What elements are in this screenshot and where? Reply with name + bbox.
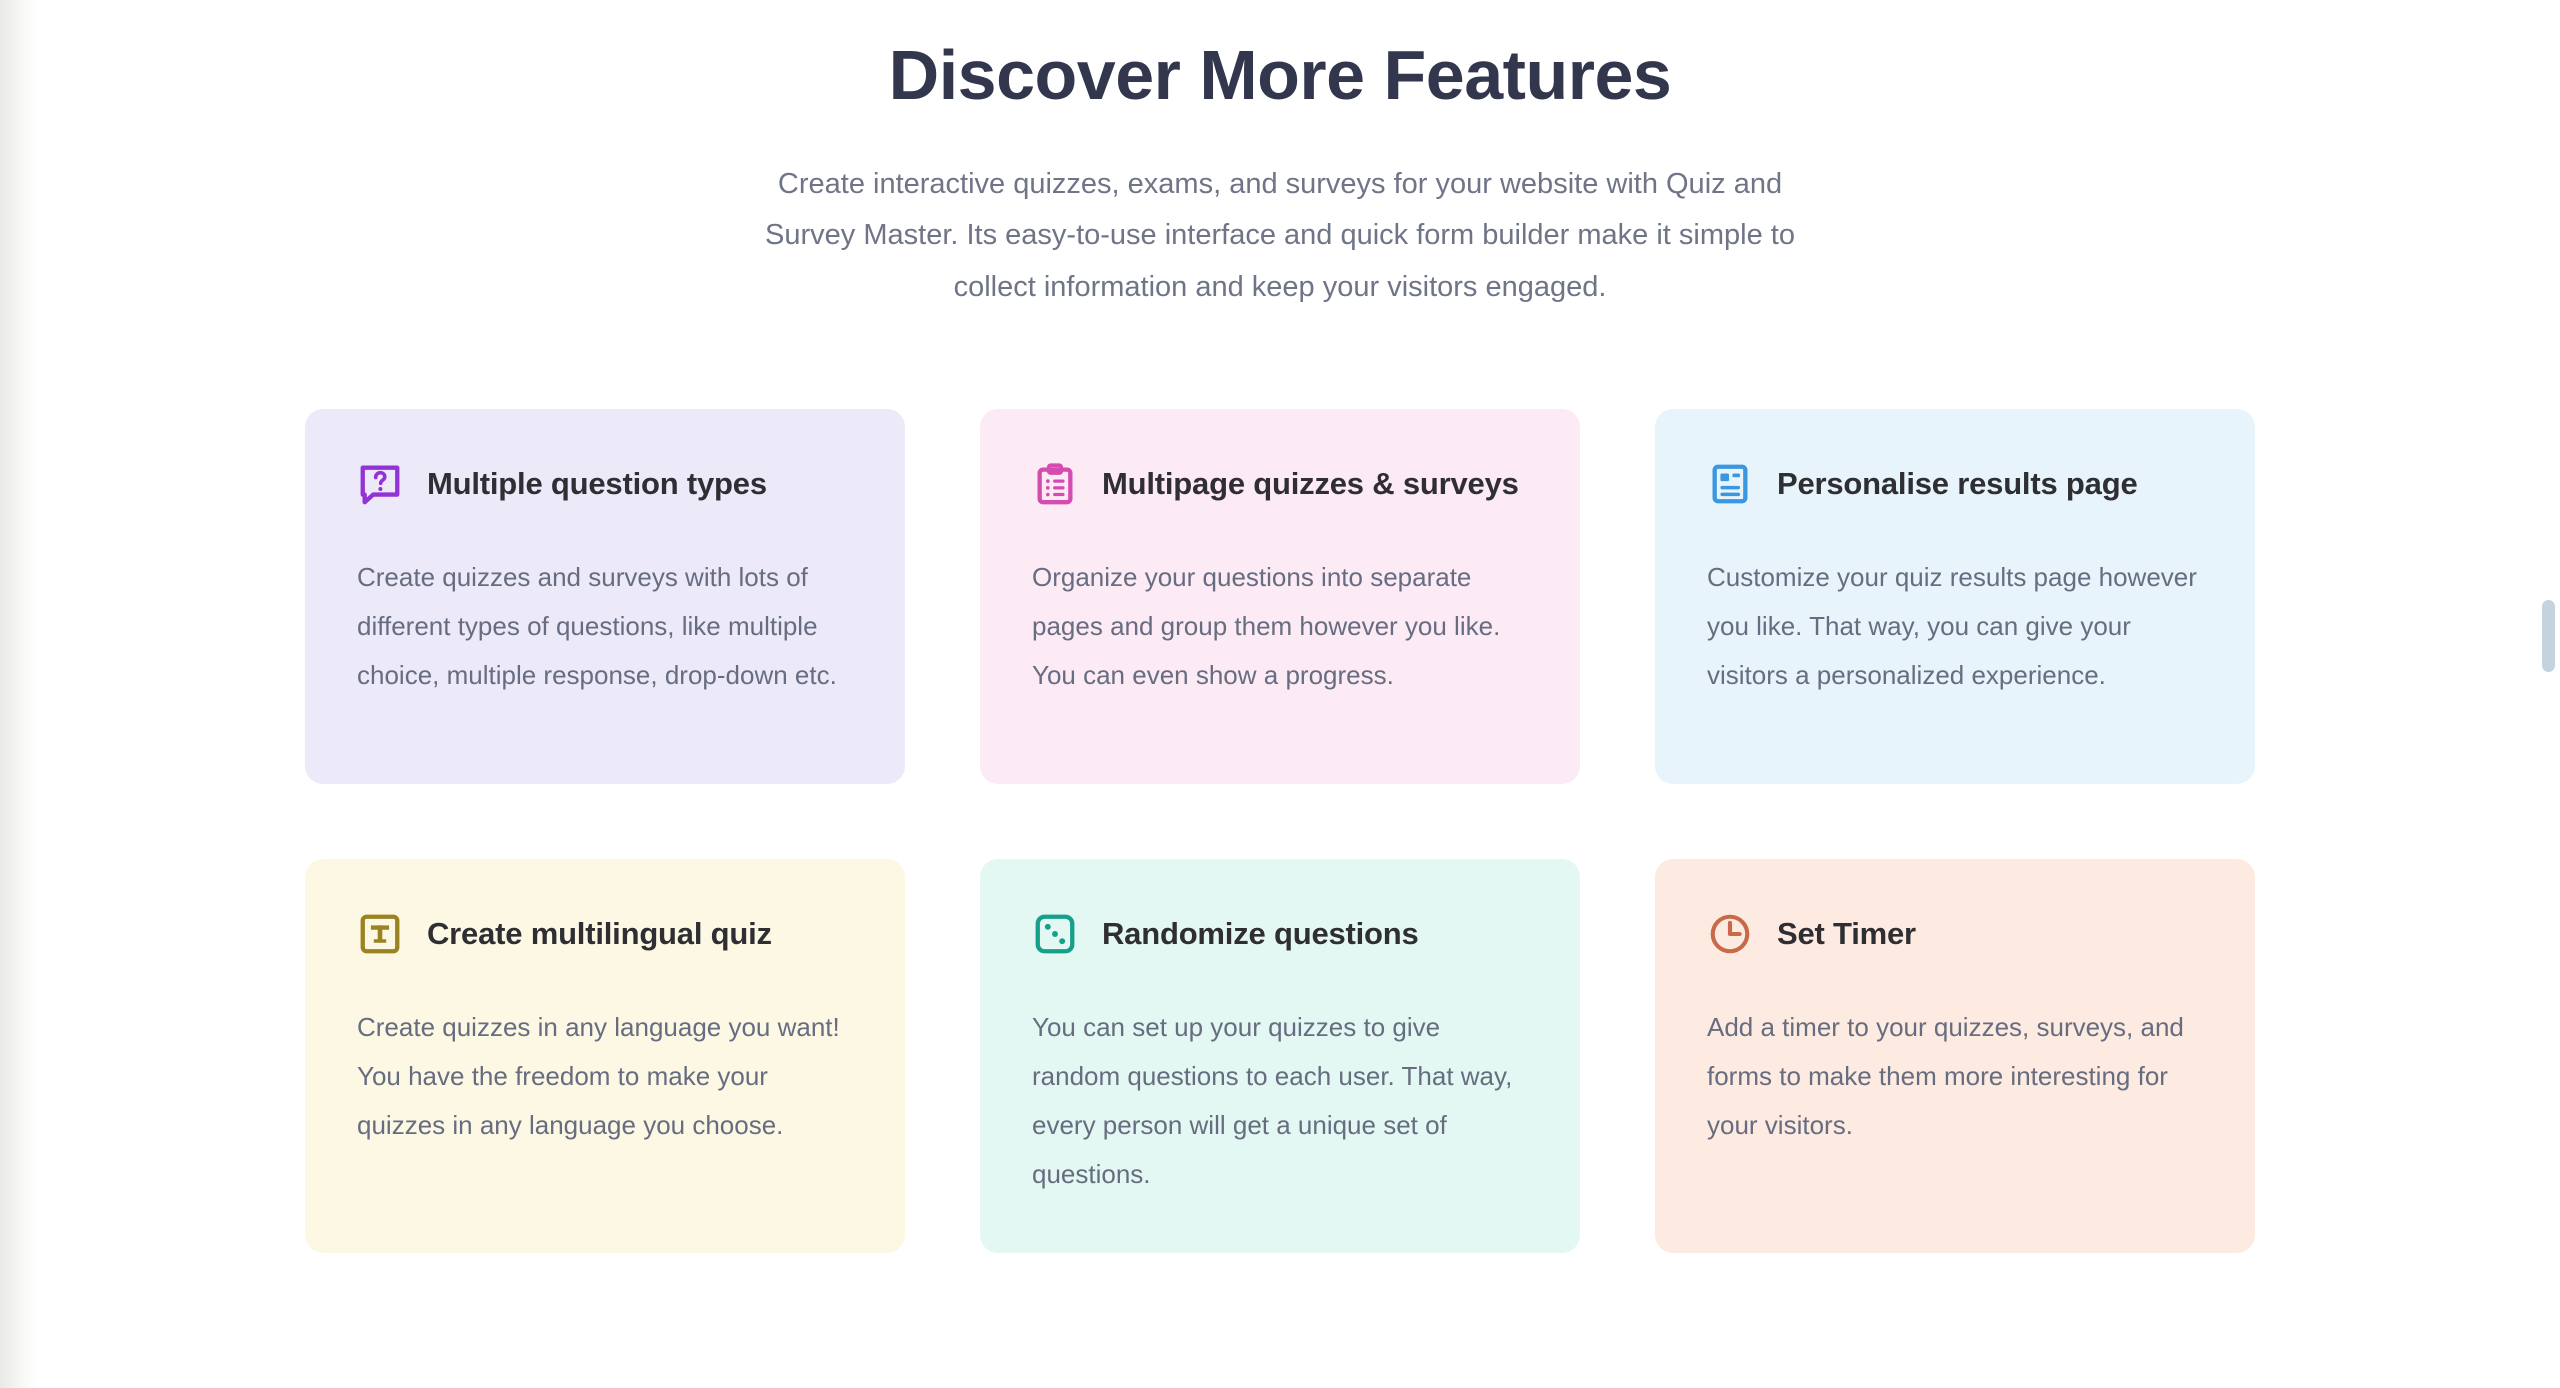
card-title: Create multilingual quiz bbox=[427, 916, 772, 952]
card-title: Personalise results page bbox=[1777, 466, 2137, 502]
card-title: Set Timer bbox=[1777, 916, 1916, 952]
card-body-text: Organize your questions into separate pa… bbox=[1032, 553, 1528, 700]
features-page: Discover More Features Create interactiv… bbox=[0, 0, 2560, 1388]
article-document-icon bbox=[1707, 461, 1753, 507]
card-body-text: Create quizzes and surveys with lots of … bbox=[357, 553, 853, 700]
card-title: Multipage quizzes & surveys bbox=[1102, 466, 1519, 502]
features-content: Discover More Features Create interactiv… bbox=[305, 0, 2255, 1253]
feature-card-create-multilingual-quiz[interactable]: Create multilingual quiz Create quizzes … bbox=[305, 859, 905, 1253]
card-header: Set Timer bbox=[1707, 911, 2203, 957]
page-subtitle: Create interactive quizzes, exams, and s… bbox=[730, 159, 1830, 314]
card-title: Randomize questions bbox=[1102, 916, 1419, 952]
feature-card-randomize-questions[interactable]: Randomize questions You can set up your … bbox=[980, 859, 1580, 1253]
card-header: Randomize questions bbox=[1032, 911, 1528, 957]
page-left-edge-shade bbox=[0, 0, 40, 1388]
vertical-scrollbar-thumb[interactable] bbox=[2542, 600, 2555, 672]
card-header: Multipage quizzes & surveys bbox=[1032, 461, 1528, 507]
feature-card-multiple-question-types[interactable]: Multiple question types Create quizzes a… bbox=[305, 409, 905, 784]
dice-randomize-icon bbox=[1032, 911, 1078, 957]
card-header: Personalise results page bbox=[1707, 461, 2203, 507]
feature-card-set-timer[interactable]: Set Timer Add a timer to your quizzes, s… bbox=[1655, 859, 2255, 1253]
feature-cards-grid: Multiple question types Create quizzes a… bbox=[305, 409, 2255, 1253]
speech-bubble-question-icon bbox=[357, 461, 403, 507]
card-header: Create multilingual quiz bbox=[357, 911, 853, 957]
card-header: Multiple question types bbox=[357, 461, 853, 507]
card-body-text: You can set up your quizzes to give rand… bbox=[1032, 1003, 1528, 1199]
page-title: Discover More Features bbox=[305, 34, 2255, 117]
card-title: Multiple question types bbox=[427, 466, 767, 502]
text-letter-t-icon bbox=[357, 911, 403, 957]
card-body-text: Customize your quiz results page however… bbox=[1707, 553, 2203, 700]
vertical-scrollbar[interactable] bbox=[2534, 0, 2560, 1388]
clipboard-list-icon bbox=[1032, 461, 1078, 507]
clock-timer-icon bbox=[1707, 911, 1753, 957]
card-body-text: Create quizzes in any language you want!… bbox=[357, 1003, 853, 1150]
feature-card-personalise-results-page[interactable]: Personalise results page Customize your … bbox=[1655, 409, 2255, 784]
card-body-text: Add a timer to your quizzes, surveys, an… bbox=[1707, 1003, 2203, 1150]
feature-card-multipage-quizzes-surveys[interactable]: Multipage quizzes & surveys Organize you… bbox=[980, 409, 1580, 784]
